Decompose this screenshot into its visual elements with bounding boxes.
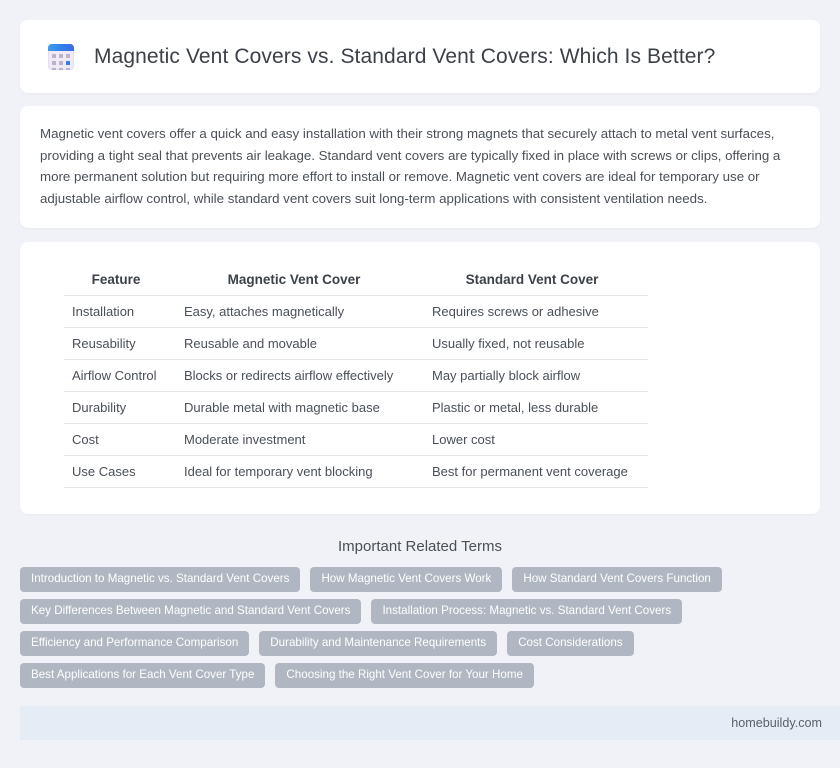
cell-feature: Durability (64, 392, 172, 424)
table-header-magnetic: Magnetic Vent Cover (172, 264, 420, 296)
table-row: Airflow Control Blocks or redirects airf… (64, 360, 648, 392)
cell-feature: Use Cases (64, 456, 172, 488)
header-card: Magnetic Vent Covers vs. Standard Vent C… (20, 20, 820, 93)
related-term-tag[interactable]: Choosing the Right Vent Cover for Your H… (275, 663, 534, 688)
cell-magnetic: Reusable and movable (172, 328, 420, 360)
cell-standard: May partially block airflow (420, 360, 648, 392)
footer-bar: homebuildy.com (20, 706, 840, 740)
cell-magnetic: Ideal for temporary vent blocking (172, 456, 420, 488)
footer-site-name: homebuildy.com (731, 716, 822, 730)
cell-feature: Installation (64, 296, 172, 328)
cell-standard: Lower cost (420, 424, 648, 456)
related-terms-heading: Important Related Terms (20, 538, 820, 555)
calendar-icon (48, 44, 74, 70)
related-terms-tag-list: Introduction to Magnetic vs. Standard Ve… (20, 567, 820, 688)
document-page: Magnetic Vent Covers vs. Standard Vent C… (0, 0, 840, 768)
table-header-row: Feature Magnetic Vent Cover Standard Ven… (64, 264, 648, 296)
cell-standard: Best for permanent vent coverage (420, 456, 648, 488)
table-row: Reusability Reusable and movable Usually… (64, 328, 648, 360)
related-term-tag[interactable]: Key Differences Between Magnetic and Sta… (20, 599, 361, 624)
related-term-tag[interactable]: Introduction to Magnetic vs. Standard Ve… (20, 567, 300, 592)
description-card: Magnetic vent covers offer a quick and e… (20, 106, 820, 228)
page-title: Magnetic Vent Covers vs. Standard Vent C… (94, 45, 715, 69)
table-header-standard: Standard Vent Cover (420, 264, 648, 296)
cell-standard: Plastic or metal, less durable (420, 392, 648, 424)
calendar-icon-top-bar (48, 44, 74, 51)
cell-magnetic: Durable metal with magnetic base (172, 392, 420, 424)
table-row: Use Cases Ideal for temporary vent block… (64, 456, 648, 488)
table-row: Durability Durable metal with magnetic b… (64, 392, 648, 424)
related-term-tag[interactable]: Efficiency and Performance Comparison (20, 631, 249, 656)
related-term-tag[interactable]: Cost Considerations (507, 631, 633, 656)
table-row: Cost Moderate investment Lower cost (64, 424, 648, 456)
comparison-table-card: Feature Magnetic Vent Cover Standard Ven… (20, 242, 820, 514)
related-term-tag[interactable]: How Magnetic Vent Covers Work (310, 567, 502, 592)
related-term-tag[interactable]: How Standard Vent Covers Function (512, 567, 722, 592)
related-term-tag[interactable]: Installation Process: Magnetic vs. Stand… (371, 599, 682, 624)
table-header-feature: Feature (64, 264, 172, 296)
cell-standard: Requires screws or adhesive (420, 296, 648, 328)
cell-magnetic: Moderate investment (172, 424, 420, 456)
cell-magnetic: Blocks or redirects airflow effectively (172, 360, 420, 392)
cell-feature: Airflow Control (64, 360, 172, 392)
cell-standard: Usually fixed, not reusable (420, 328, 648, 360)
cell-feature: Reusability (64, 328, 172, 360)
cell-magnetic: Easy, attaches magnetically (172, 296, 420, 328)
related-term-tag[interactable]: Durability and Maintenance Requirements (259, 631, 497, 656)
table-row: Installation Easy, attaches magnetically… (64, 296, 648, 328)
calendar-icon-grid (52, 54, 70, 70)
cell-feature: Cost (64, 424, 172, 456)
description-text: Magnetic vent covers offer a quick and e… (40, 123, 800, 209)
comparison-table: Feature Magnetic Vent Cover Standard Ven… (64, 264, 648, 488)
related-term-tag[interactable]: Best Applications for Each Vent Cover Ty… (20, 663, 265, 688)
